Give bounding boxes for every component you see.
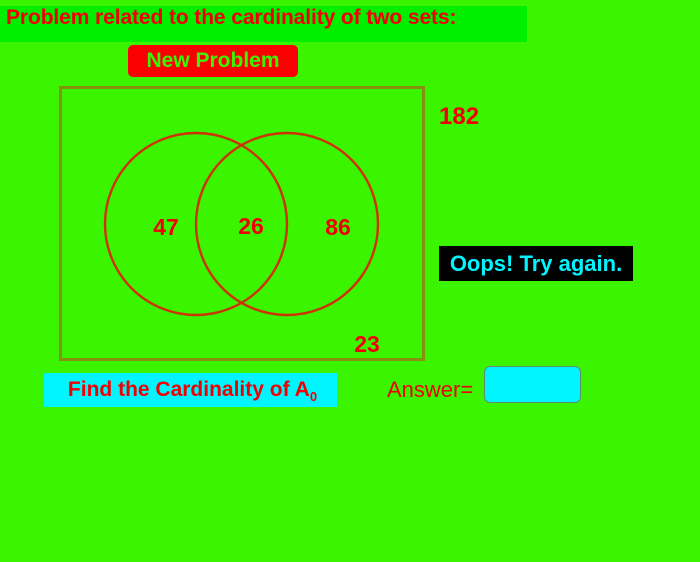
- new-problem-button[interactable]: New Problem: [128, 45, 298, 77]
- feedback-message: Oops! Try again.: [439, 246, 633, 281]
- venn-count-outside: 23: [345, 331, 389, 358]
- venn-count-intersection: 26: [229, 213, 273, 240]
- venn-diagram-container: 47 26 86 23: [59, 86, 425, 361]
- answer-input[interactable]: [484, 366, 581, 403]
- question-prompt-subscript: 0: [310, 389, 317, 404]
- question-prompt-text: Find the Cardinality of A: [68, 378, 310, 401]
- question-prompt: Find the Cardinality of A0: [44, 373, 337, 407]
- universal-set-total: 182: [439, 103, 479, 131]
- venn-count-only-b: 86: [316, 214, 360, 241]
- venn-count-only-a: 47: [144, 214, 188, 241]
- answer-label: Answer=: [387, 373, 473, 407]
- page-title: Problem related to the cardinality of tw…: [6, 6, 456, 30]
